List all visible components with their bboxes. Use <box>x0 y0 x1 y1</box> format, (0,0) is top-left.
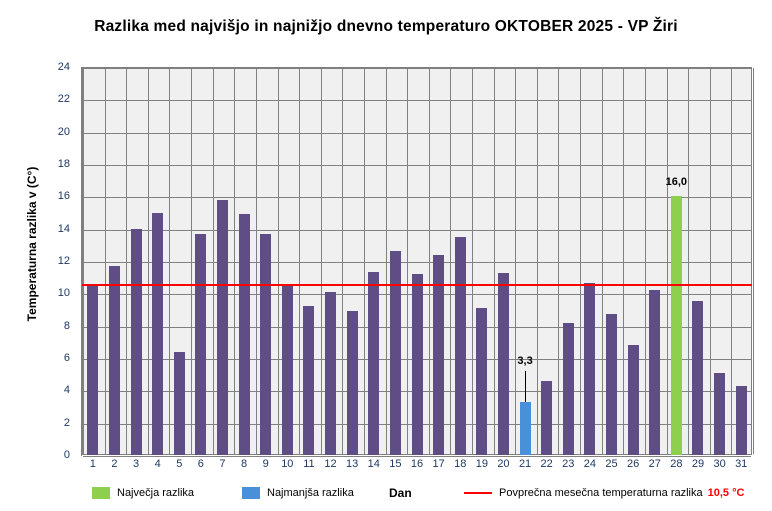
bar-day-27[interactable] <box>649 290 660 455</box>
y-axis-tick-label: 2 <box>64 417 70 429</box>
bar-day-10[interactable] <box>282 284 293 455</box>
x-axis-tick-label-8: 8 <box>241 458 247 470</box>
legend-item-largest[interactable]: Največja razlika <box>92 487 194 499</box>
bar-day-11[interactable] <box>303 306 314 455</box>
x-axis-tick-label-6: 6 <box>198 458 204 470</box>
gridline-horizontal <box>83 456 751 457</box>
bar-day-31[interactable] <box>736 386 747 455</box>
y-axis-tick-label: 18 <box>58 158 70 170</box>
bar-day-3[interactable] <box>131 229 142 455</box>
bars-layer <box>82 67 752 455</box>
bar-day-18[interactable] <box>455 237 466 455</box>
bar-day-16[interactable] <box>412 274 423 455</box>
chart-container: Razlika med najvišjo in najnižjo dnevno … <box>0 0 772 511</box>
x-axis-tick-label-24: 24 <box>584 458 596 470</box>
y-axis-title: Temperaturna razlika v (C°) <box>25 84 39 404</box>
x-axis-tick-label-20: 20 <box>497 458 509 470</box>
bar-day-23[interactable] <box>563 323 574 455</box>
x-axis-tick-label-7: 7 <box>219 458 225 470</box>
legend-swatch-blue-icon <box>242 487 260 499</box>
y-axis-tick-label: 20 <box>58 126 70 138</box>
bar-day-29[interactable] <box>692 301 703 455</box>
x-axis-tick-label-5: 5 <box>176 458 182 470</box>
average-reference-line <box>82 284 752 286</box>
bar-day-12[interactable] <box>325 292 336 455</box>
x-axis-tick-label-15: 15 <box>389 458 401 470</box>
y-axis-tick-label: 24 <box>58 61 70 73</box>
x-axis-tick-label-30: 30 <box>713 458 725 470</box>
bar-day-28[interactable] <box>671 196 682 455</box>
y-axis-tick-label: 6 <box>64 352 70 364</box>
bar-day-22[interactable] <box>541 381 552 455</box>
x-axis-tick-label-22: 22 <box>541 458 553 470</box>
legend-label-average: Povprečna mesečna temperaturna razlika <box>499 487 703 499</box>
bar-day-5[interactable] <box>174 352 185 455</box>
bar-day-20[interactable] <box>498 273 509 455</box>
x-axis-tick-label-12: 12 <box>324 458 336 470</box>
x-axis-tick-label-18: 18 <box>454 458 466 470</box>
bar-day-25[interactable] <box>606 314 617 455</box>
bar-day-15[interactable] <box>390 251 401 455</box>
bar-day-6[interactable] <box>195 234 206 455</box>
legend-item-smallest[interactable]: Najmanjša razlika <box>242 487 354 499</box>
gridline-vertical <box>753 68 754 454</box>
x-axis-tick-label-17: 17 <box>432 458 444 470</box>
legend-label-average-value: 10,5 °C <box>708 487 745 499</box>
x-axis-tick-label-25: 25 <box>605 458 617 470</box>
bar-day-19[interactable] <box>476 308 487 455</box>
data-label-day-21: 3,3 <box>517 355 532 367</box>
x-axis-tick-label-11: 11 <box>303 458 314 470</box>
x-axis-tick-label-9: 9 <box>263 458 269 470</box>
x-axis-tick-label-4: 4 <box>155 458 161 470</box>
bar-day-13[interactable] <box>347 311 358 455</box>
legend-swatch-redline-icon <box>464 487 492 499</box>
x-axis-tick-label-28: 28 <box>670 458 682 470</box>
x-axis-tick-label-14: 14 <box>368 458 380 470</box>
y-axis-tick-label: 4 <box>64 384 70 396</box>
x-axis: 1234567891011121314151617181920212223242… <box>82 458 752 480</box>
x-axis-tick-label-2: 2 <box>111 458 117 470</box>
y-axis-tick-label: 14 <box>58 223 70 235</box>
y-axis-tick-label: 16 <box>58 190 70 202</box>
x-axis-tick-label-29: 29 <box>692 458 704 470</box>
x-axis-tick-label-10: 10 <box>281 458 293 470</box>
bar-day-30[interactable] <box>714 373 725 455</box>
data-label-day-28: 16,0 <box>666 176 687 188</box>
bar-day-24[interactable] <box>584 283 595 455</box>
x-axis-tick-label-13: 13 <box>346 458 358 470</box>
x-axis-tick-label-3: 3 <box>133 458 139 470</box>
chart-title: Razlika med najvišjo in najnižjo dnevno … <box>0 18 772 36</box>
bar-day-8[interactable] <box>239 214 250 455</box>
bar-day-26[interactable] <box>628 345 639 455</box>
x-axis-tick-label-1: 1 <box>90 458 96 470</box>
bar-day-9[interactable] <box>260 234 271 455</box>
chart-legend: Največja razlika Najmanjša razlika Povpr… <box>0 483 772 507</box>
bar-day-7[interactable] <box>217 200 228 455</box>
bar-day-2[interactable] <box>109 266 120 455</box>
bar-day-4[interactable] <box>152 213 163 456</box>
y-axis-tick-label: 22 <box>58 93 70 105</box>
y-axis-tick-label: 12 <box>58 255 70 267</box>
bar-day-21[interactable] <box>520 402 531 455</box>
y-axis: Temperaturna razlika v (C°) 024681012141… <box>0 67 78 456</box>
legend-label-smallest: Najmanjša razlika <box>267 487 354 499</box>
legend-label-largest: Največja razlika <box>117 487 194 499</box>
x-axis-tick-label-23: 23 <box>562 458 574 470</box>
x-axis-tick-label-31: 31 <box>735 458 747 470</box>
legend-item-average[interactable]: Povprečna mesečna temperaturna razlika 1… <box>464 487 744 499</box>
legend-swatch-green-icon <box>92 487 110 499</box>
x-axis-tick-label-16: 16 <box>411 458 423 470</box>
x-axis-tick-label-27: 27 <box>649 458 661 470</box>
y-axis-tick-label: 0 <box>64 449 70 461</box>
x-axis-tick-label-26: 26 <box>627 458 639 470</box>
bar-day-1[interactable] <box>87 285 98 455</box>
data-label-leader-line <box>525 371 526 402</box>
x-axis-tick-label-19: 19 <box>476 458 488 470</box>
x-axis-tick-label-21: 21 <box>519 458 531 470</box>
bar-day-14[interactable] <box>368 272 379 455</box>
y-axis-tick-label: 8 <box>64 320 70 332</box>
y-axis-tick-label: 10 <box>58 287 70 299</box>
